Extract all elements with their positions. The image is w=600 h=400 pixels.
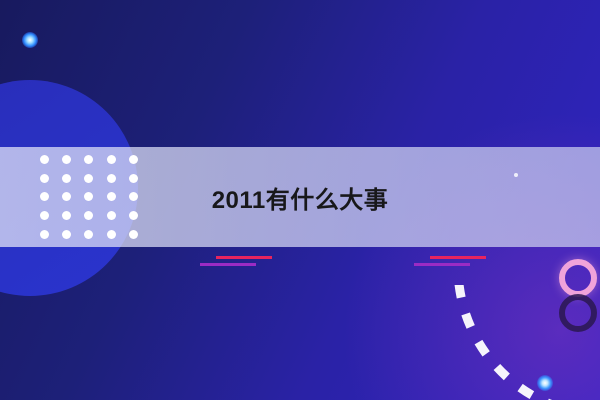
dark-ring-icon <box>559 294 597 332</box>
banner-canvas: 2011有什么大事 <box>0 0 600 400</box>
accent-rule-pink <box>216 256 272 259</box>
accent-rule-left <box>200 256 278 270</box>
accent-rule-purple <box>414 263 470 266</box>
glowing-blue-dot-icon <box>22 32 38 48</box>
accent-rule-pink <box>430 256 486 259</box>
banner-title: 2011有什么大事 <box>0 147 600 247</box>
dashed-arc-icon <box>420 285 600 400</box>
pink-ring-icon <box>559 259 597 297</box>
accent-rule-right <box>414 256 492 270</box>
accent-rule-purple <box>200 263 256 266</box>
glowing-blue-dot-icon <box>537 375 553 391</box>
